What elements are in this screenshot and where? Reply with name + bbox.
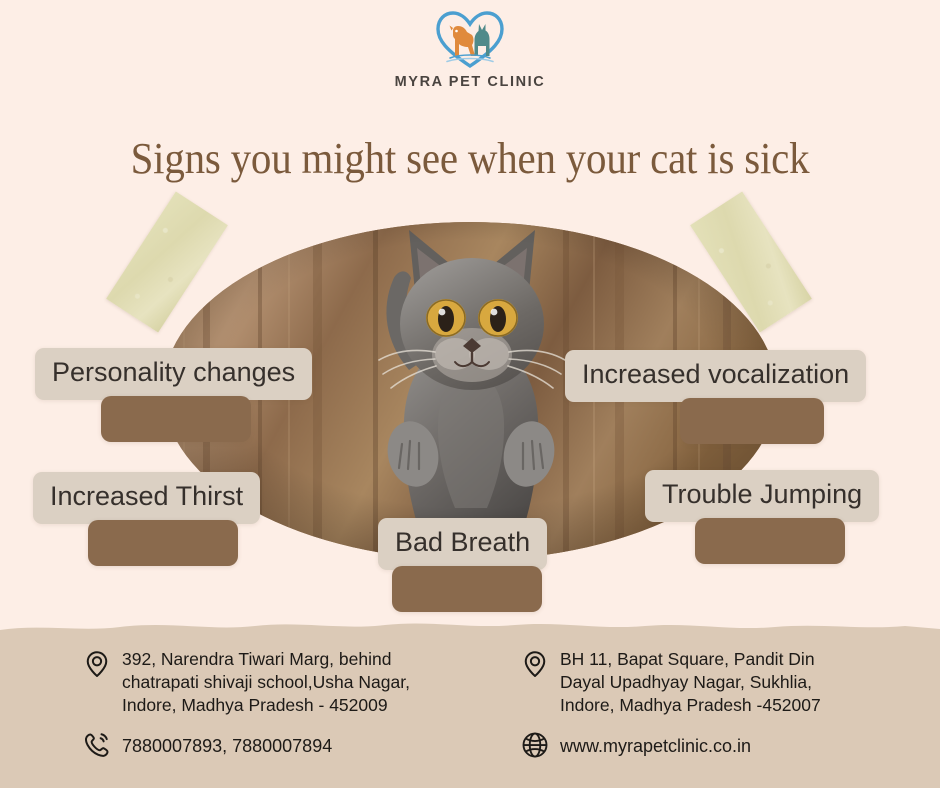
footer-address-text: 392, Narendra Tiwari Marg, behind chatra… bbox=[122, 648, 410, 717]
globe-icon bbox=[520, 730, 554, 764]
footer-website-text: www.myrapetclinic.co.in bbox=[560, 735, 751, 759]
phone-icon bbox=[82, 730, 116, 764]
symptom-accent-bar bbox=[680, 398, 824, 444]
symptom-label: Personality changes bbox=[35, 348, 312, 400]
symptom-bad-breath[interactable]: Bad Breath bbox=[378, 518, 547, 612]
footer-right-column: BH 11, Bapat Square, Pandit Din Dayal Up… bbox=[520, 648, 940, 773]
symptom-trouble-jumping[interactable]: Trouble Jumping bbox=[645, 470, 879, 564]
torn-paper-edge bbox=[0, 616, 940, 638]
heart-dog-cat-logo-icon bbox=[434, 8, 506, 70]
footer-band: 392, Narendra Tiwari Marg, behind chatra… bbox=[0, 630, 940, 788]
location-pin-icon bbox=[520, 649, 554, 683]
symptom-label: Increased Thirst bbox=[33, 472, 260, 524]
symptom-accent-bar bbox=[695, 518, 845, 564]
page-title: Signs you might see when your cat is sic… bbox=[33, 133, 907, 184]
footer-left-column: 392, Narendra Tiwari Marg, behind chatra… bbox=[82, 648, 512, 773]
symptom-increased-vocalization[interactable]: Increased vocalization bbox=[565, 350, 866, 444]
footer-phone-row[interactable]: 7880007893, 7880007894 bbox=[82, 729, 512, 764]
footer-address-row-2: BH 11, Bapat Square, Pandit Din Dayal Up… bbox=[520, 648, 940, 717]
footer-website-row[interactable]: www.myrapetclinic.co.in bbox=[520, 729, 940, 764]
brand-logo: MYRA PET CLINIC bbox=[0, 8, 940, 90]
location-pin-icon bbox=[82, 649, 116, 683]
symptom-accent-bar bbox=[88, 520, 238, 566]
symptom-accent-bar bbox=[101, 396, 251, 442]
symptom-label: Trouble Jumping bbox=[645, 470, 879, 522]
symptom-accent-bar bbox=[392, 566, 542, 612]
footer-phone-text: 7880007893, 7880007894 bbox=[122, 735, 332, 759]
footer-address-text: BH 11, Bapat Square, Pandit Din Dayal Up… bbox=[560, 648, 821, 717]
symptom-increased-thirst[interactable]: Increased Thirst bbox=[33, 472, 260, 566]
brand-name: MYRA PET CLINIC bbox=[395, 74, 546, 90]
poster-canvas: MYRA PET CLINIC Signs you might see when… bbox=[0, 0, 940, 788]
symptom-label: Bad Breath bbox=[378, 518, 547, 570]
symptom-label: Increased vocalization bbox=[565, 350, 866, 402]
symptom-personality-changes[interactable]: Personality changes bbox=[35, 348, 312, 442]
footer-address-row-1: 392, Narendra Tiwari Marg, behind chatra… bbox=[82, 648, 512, 717]
